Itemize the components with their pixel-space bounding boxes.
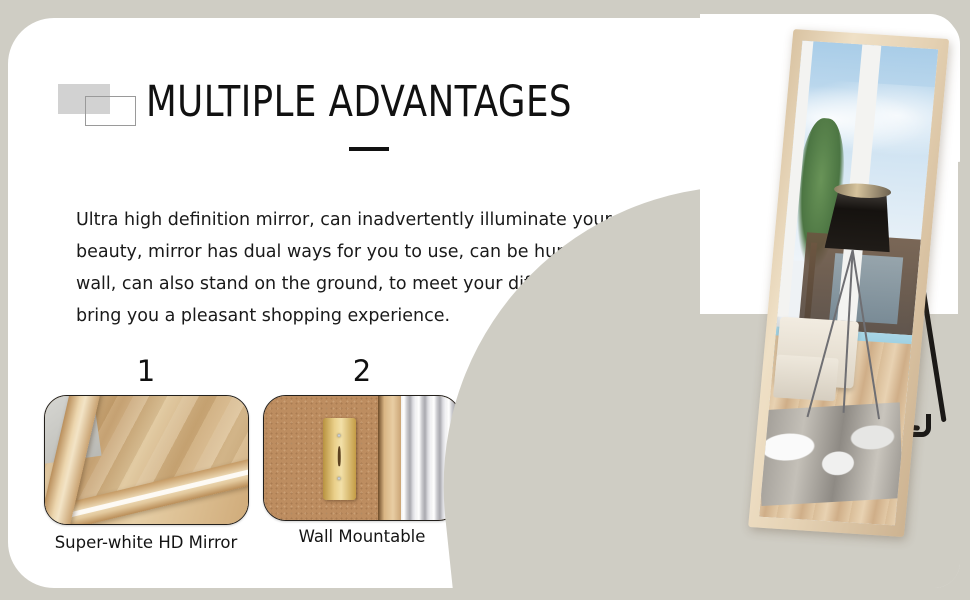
outlined-square-icon xyxy=(85,96,136,126)
feature-caption: Super-white HD Mirror xyxy=(42,533,250,552)
feature-item-2: 2 Wall Mountable xyxy=(258,356,466,546)
feature-image-super-white-hd-mirror xyxy=(44,395,249,525)
rug-reflection xyxy=(759,403,903,506)
hero-product-photo xyxy=(700,0,970,600)
keyhole-bracket-icon xyxy=(323,418,356,500)
screw-icon xyxy=(338,434,341,437)
feature-item-1: 1 Super-white HD Mirror xyxy=(42,356,250,552)
product-infographic: MULTIPLE ADVANTAGES Ultra high definitio… xyxy=(0,0,970,600)
screw-icon xyxy=(338,477,341,480)
title-divider xyxy=(349,147,389,151)
feature-number: 1 xyxy=(42,356,250,386)
decorative-squares xyxy=(58,84,138,126)
feature-image-wall-mountable xyxy=(263,395,461,521)
feature-number: 2 xyxy=(258,356,466,386)
feature-caption: Wall Mountable xyxy=(258,527,466,546)
page-title: MULTIPLE ADVANTAGES xyxy=(146,76,572,128)
